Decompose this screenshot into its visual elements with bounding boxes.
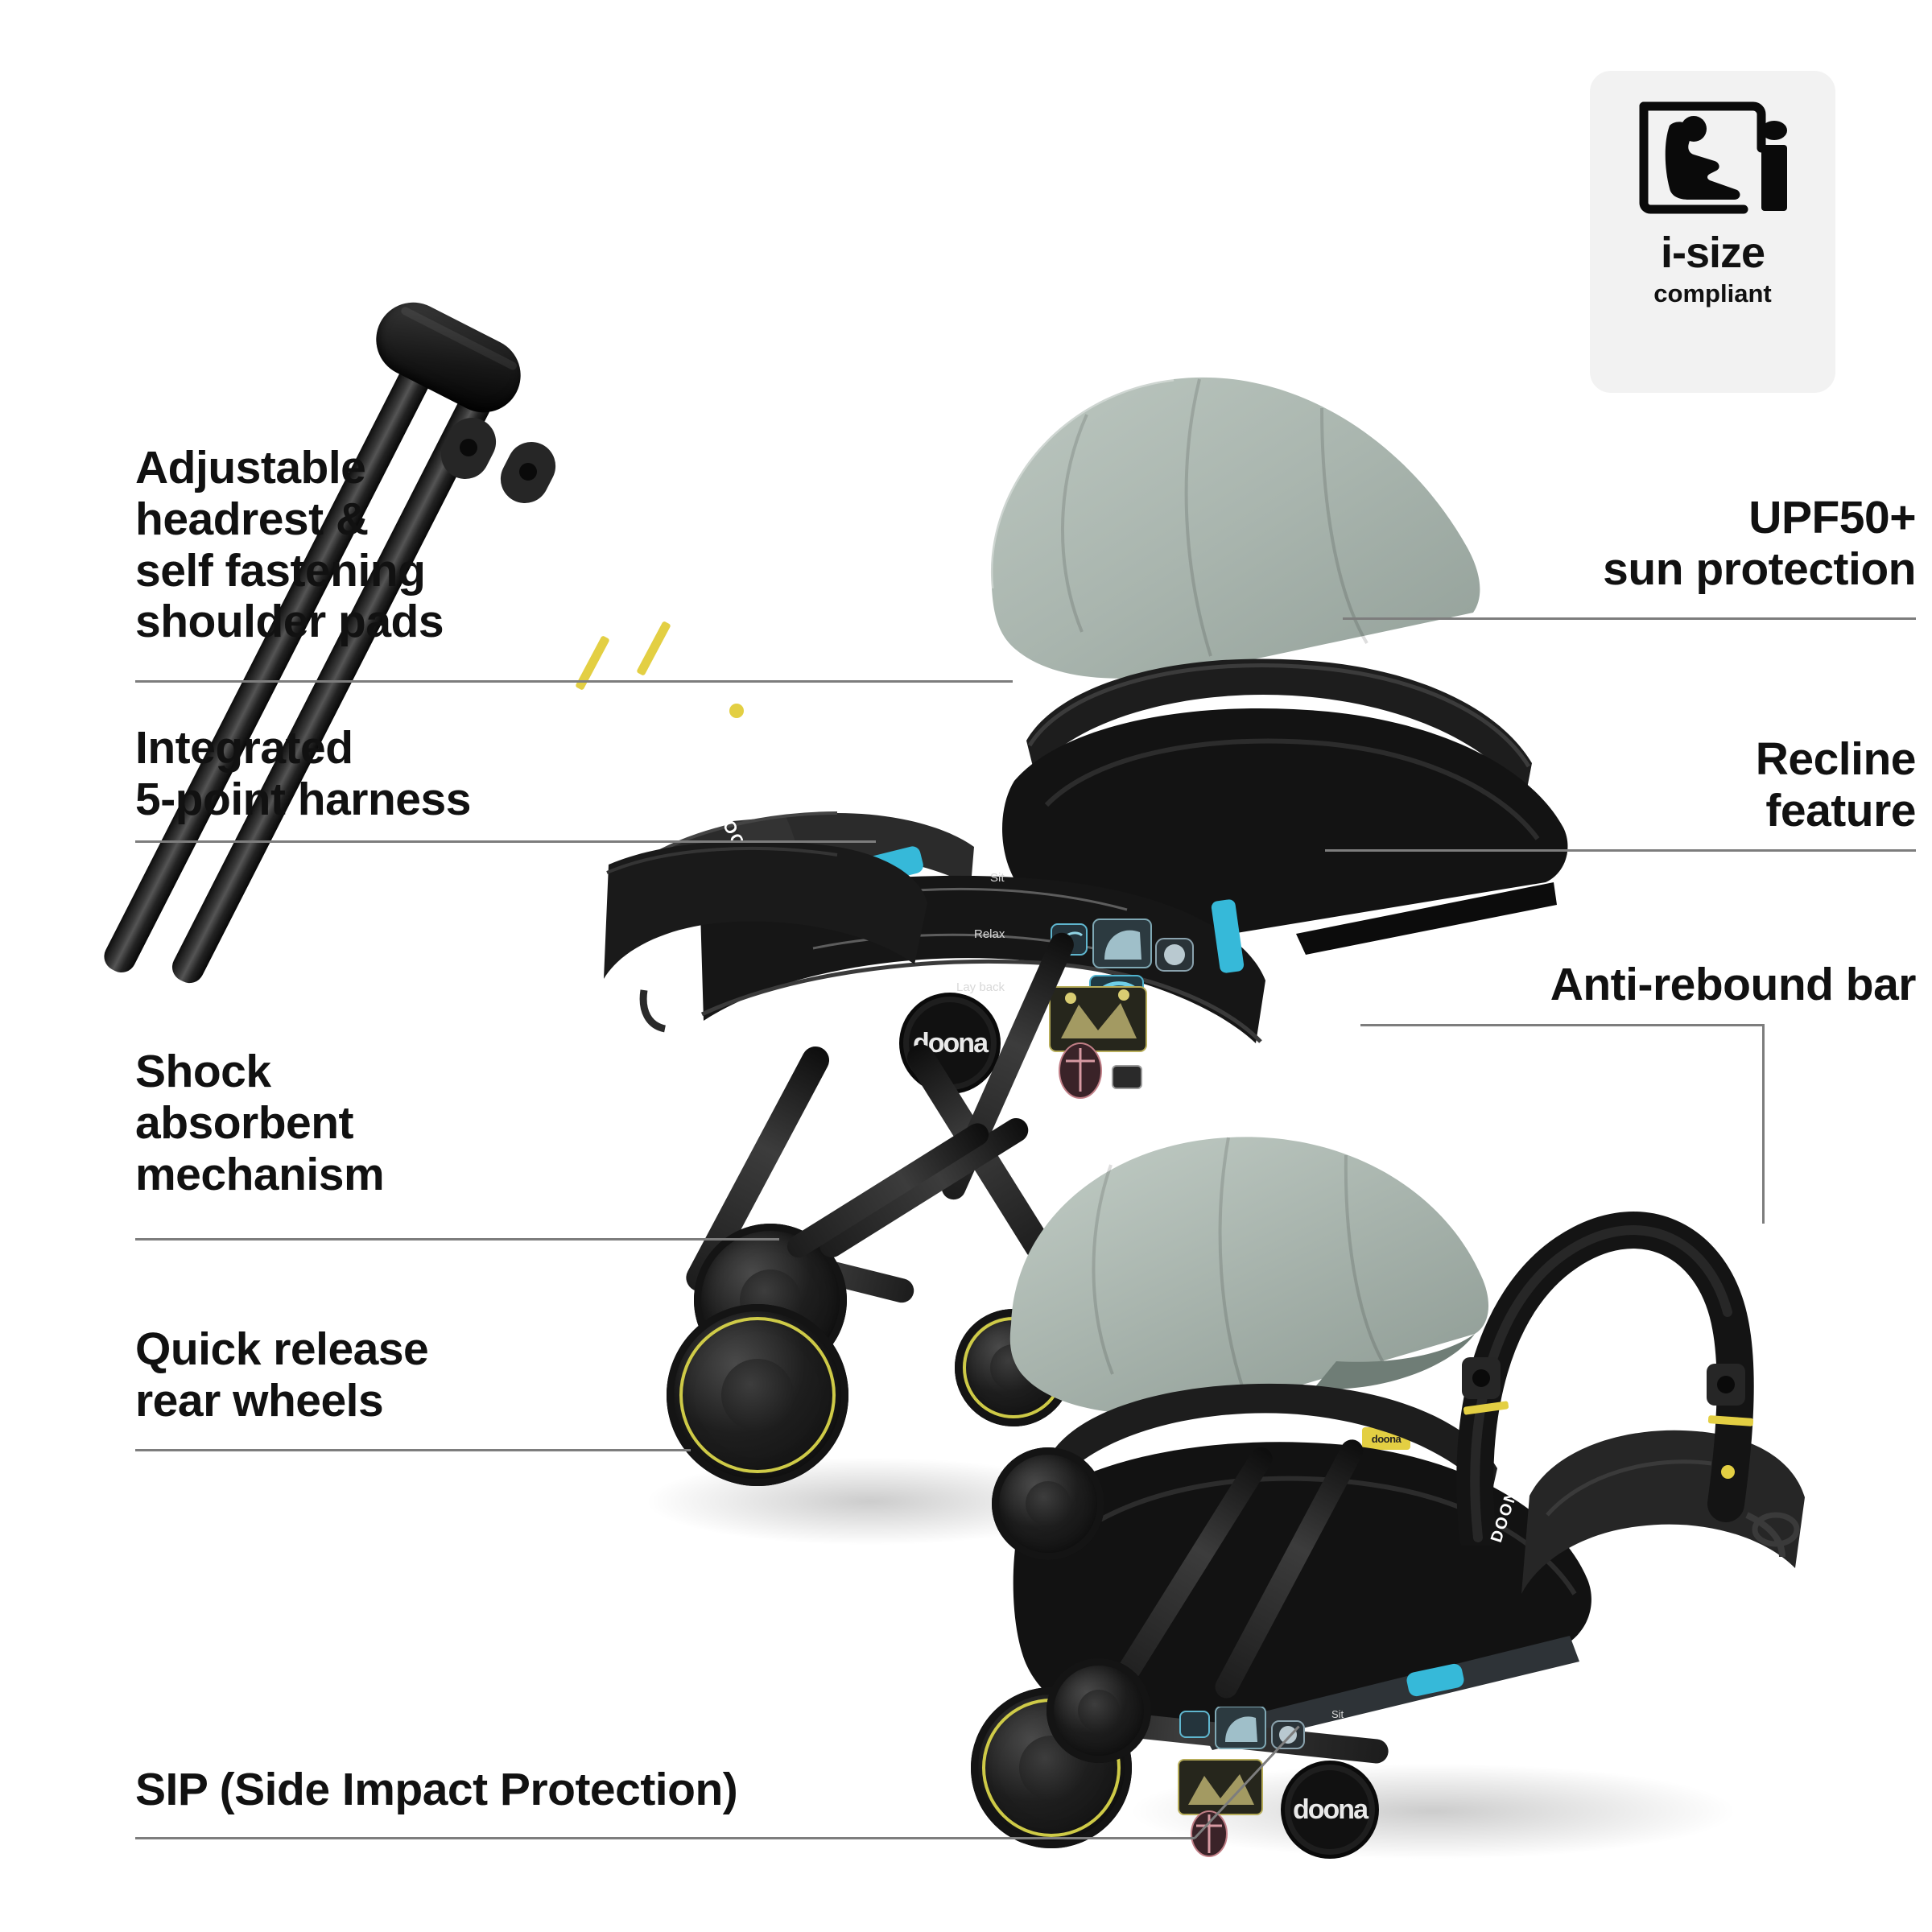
callout-line: feature <box>1433 786 1916 837</box>
callout-side-impact-protection: SIP (Side Impact Protection) <box>135 1765 737 1816</box>
callout-anti-rebound-bar: Anti-rebound bar <box>1288 960 1916 1011</box>
callout-adjustable-headrest: Adjustable headrest & self fastening sho… <box>135 443 444 648</box>
front-wheel-lower-small <box>992 1447 1104 1560</box>
doona-logo-badge-lower: doona <box>1285 1765 1375 1855</box>
rear-wheel-lower-back <box>1046 1658 1151 1763</box>
callout-line: Quick release <box>135 1324 428 1376</box>
callout-line: 5-point harness <box>135 774 471 826</box>
infographic-canvas: i-size compliant <box>0 0 1932 1932</box>
rebound-bar-yellow-dot <box>1721 1465 1735 1479</box>
callout-line: self fastening <box>135 546 444 597</box>
callout-line: sun protection <box>1433 544 1916 596</box>
doona-wordmark-lower: doona <box>1293 1794 1367 1826</box>
anti-rebound-bar-element <box>1425 1167 1763 1546</box>
callout-shock-absorbent: Shock absorbent mechanism <box>135 1046 384 1200</box>
leader-line-anti-rebound-bar <box>1360 1024 1765 1026</box>
callout-line: SIP (Side Impact Protection) <box>135 1765 737 1816</box>
folded-handle-lower-2 <box>783 1119 993 1261</box>
callout-recline-feature: Recline feature <box>1433 734 1916 837</box>
callout-line: Shock <box>135 1046 384 1098</box>
callout-line: shoulder pads <box>135 597 444 648</box>
leader-line-quick-release-wheels <box>135 1449 691 1451</box>
callout-line: Recline <box>1433 734 1916 786</box>
leader-line-shock-absorbent <box>135 1238 779 1241</box>
leader-line-adjustable-headrest <box>135 680 1013 683</box>
leader-line-integrated-harness <box>135 840 876 843</box>
leader-line-recline-feature <box>1325 849 1916 852</box>
leader-line-upf50-sun-protection <box>1343 617 1916 620</box>
callout-line: mechanism <box>135 1150 384 1201</box>
recline-label-sit-lower: Sit <box>1331 1708 1344 1720</box>
callout-line: headrest & <box>135 494 444 546</box>
callout-line: rear wheels <box>135 1376 428 1427</box>
callout-line: UPF50+ <box>1433 493 1916 544</box>
leader-line-anti-rebound-bar-drop <box>1762 1024 1765 1224</box>
callout-line: Adjustable <box>135 443 444 494</box>
callout-line: Integrated <box>135 723 471 774</box>
callout-line: Anti-rebound bar <box>1288 960 1916 1011</box>
callout-line: absorbent <box>135 1098 384 1150</box>
leader-line-side-impact-protection <box>135 1837 1195 1839</box>
callout-quick-release-wheels: Quick release rear wheels <box>135 1324 428 1427</box>
callout-upf50-sun-protection: UPF50+ sun protection <box>1433 493 1916 596</box>
callout-integrated-harness: Integrated 5-point harness <box>135 723 471 826</box>
